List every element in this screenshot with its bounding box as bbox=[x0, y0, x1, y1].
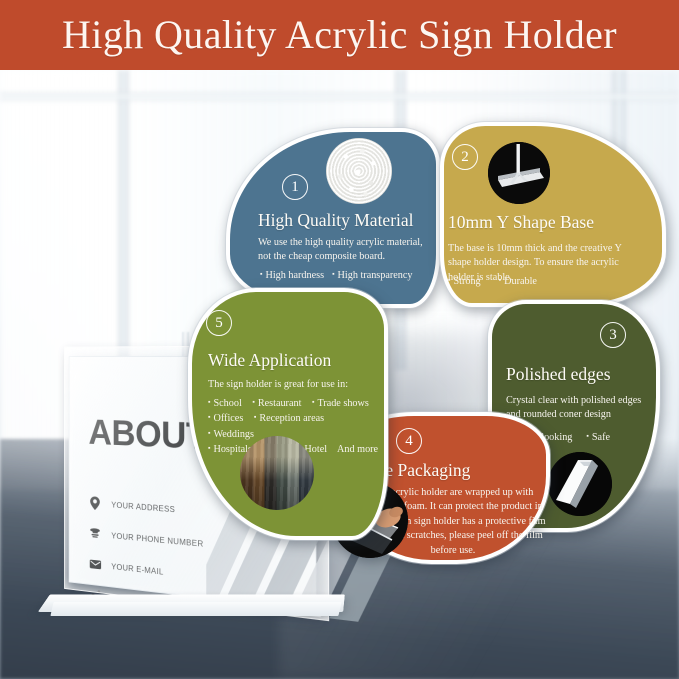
petal-5-bullet: Trade shows bbox=[312, 398, 369, 409]
header-banner: High Quality Acrylic Sign Holder bbox=[0, 0, 679, 70]
petal-2-number: 2 bbox=[452, 144, 478, 170]
petal-5-number: 5 bbox=[206, 310, 232, 336]
petal-5-bullet: Restaurant bbox=[252, 398, 301, 409]
feature-petal-2[interactable]: 2 10mm Y Shape Base The base is 10mm thi… bbox=[440, 122, 666, 307]
page-title: High Quality Acrylic Sign Holder bbox=[62, 15, 617, 55]
petal-5-content: 5 Wide Application The sign holder is gr… bbox=[188, 288, 388, 540]
petal-2-title: 10mm Y Shape Base bbox=[448, 212, 594, 233]
petal-2-bullet: Durable bbox=[499, 274, 537, 289]
petal-1-bullets: High hardness High transparency bbox=[260, 268, 421, 283]
petal-1-bullet: High hardness bbox=[260, 268, 324, 283]
petal-1-description: We use the high quality acrylic material… bbox=[258, 236, 430, 265]
petal-5-description: The sign holder is great for use in: bbox=[208, 378, 388, 392]
petal-5-extra-note: And more bbox=[337, 444, 378, 455]
polished-edge-photo bbox=[548, 452, 612, 516]
petal-5-bullet: School bbox=[208, 398, 242, 409]
petal-4-number: 4 bbox=[396, 428, 422, 454]
petal-1-content: 1 High Quality Material We use the high … bbox=[226, 128, 440, 308]
infographic-stage: High Quality Acrylic Sign Holder ABOUT Y… bbox=[0, 0, 679, 679]
y-shape-base-photo bbox=[488, 142, 550, 204]
petal-2-content: 2 10mm Y Shape Base The base is 10mm thi… bbox=[440, 122, 666, 307]
petal-3-title: Polished edges bbox=[506, 364, 611, 385]
petal-5-bullet: Offices bbox=[208, 413, 243, 424]
petal-2-bullet: Strong bbox=[448, 274, 481, 289]
petal-2-bullets: Strong Durable bbox=[448, 274, 545, 289]
petal-5-bullet: Reception areas bbox=[254, 413, 324, 424]
petal-1-bullet: High transparency bbox=[332, 268, 412, 283]
petal-1-title: High Quality Material bbox=[258, 210, 414, 231]
petal-5-title: Wide Application bbox=[208, 350, 331, 371]
acrylic-pellets-photo bbox=[326, 138, 392, 204]
petal-3-bullet: Safe bbox=[586, 430, 610, 445]
petal-1-number: 1 bbox=[282, 174, 308, 200]
feature-wheel: 1 High Quality Material We use the high … bbox=[0, 0, 679, 679]
petal-5-bullet-row: School Restaurant Trade shows bbox=[208, 396, 388, 411]
feature-petal-5[interactable]: 5 Wide Application The sign holder is gr… bbox=[188, 288, 388, 540]
feature-petal-1[interactable]: 1 High Quality Material We use the high … bbox=[226, 128, 440, 308]
venues-photo bbox=[240, 436, 314, 510]
petal-3-number: 3 bbox=[600, 322, 626, 348]
